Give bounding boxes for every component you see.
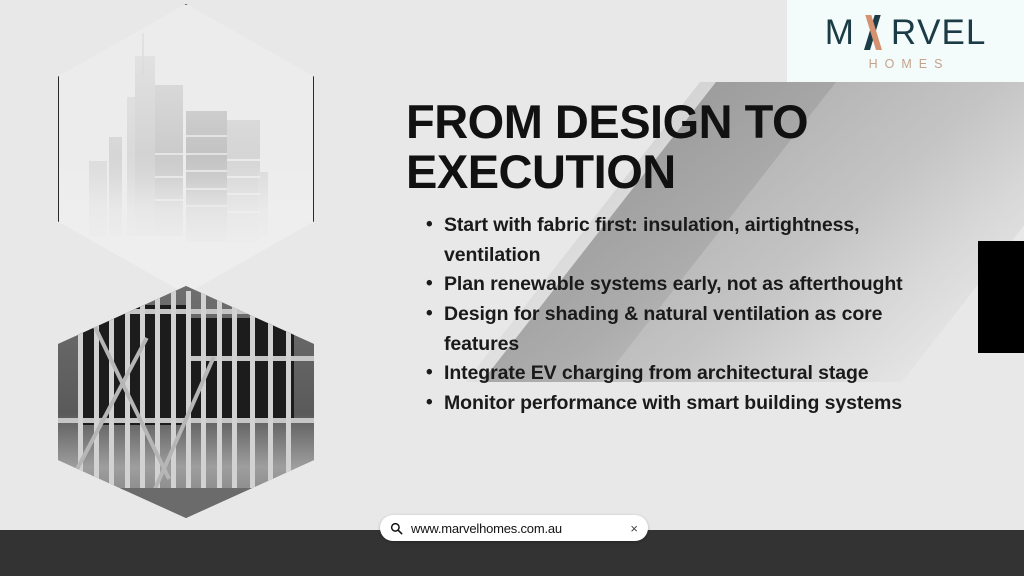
- url-text: www.marvelhomes.com.au: [411, 521, 624, 536]
- bullet-item: Start with fabric first: insulation, air…: [424, 211, 944, 270]
- logo-letter-m: M: [825, 15, 855, 50]
- bullet-list: Start with fabric first: insulation, air…: [424, 211, 944, 418]
- brand-logo: M R V E L HOMES: [787, 0, 1024, 82]
- hexagon-image-construction: [58, 286, 314, 518]
- close-icon[interactable]: ×: [624, 521, 638, 536]
- bullet-item: Monitor performance with smart building …: [424, 389, 944, 419]
- bullet-item: Integrate EV charging from architectural…: [424, 359, 944, 389]
- search-icon: [390, 522, 403, 535]
- logo-letter-r: R: [891, 15, 917, 50]
- bullet-item: Design for shading & natural ventilation…: [424, 300, 944, 359]
- slide-canvas: FROM DESIGN TO EXECUTION Start with fabr…: [0, 0, 1024, 530]
- logo-letter-l: L: [966, 15, 986, 50]
- logo-letter-a-icon: [856, 15, 890, 50]
- url-status-pill[interactable]: www.marvelhomes.com.au ×: [380, 515, 648, 541]
- bullet-item: Plan renewable systems early, not as aft…: [424, 270, 944, 300]
- hexagon-outline: [58, 4, 314, 294]
- headline-line-2: EXECUTION: [406, 147, 906, 197]
- logo-wordmark: M R V E L: [825, 12, 987, 50]
- slide-headline: FROM DESIGN TO EXECUTION: [406, 97, 906, 197]
- accent-block: [978, 241, 1024, 353]
- logo-letter-e: E: [941, 15, 965, 50]
- logo-letter-v: V: [917, 15, 941, 50]
- headline-line-1: FROM DESIGN TO: [406, 97, 906, 147]
- logo-subtitle: HOMES: [862, 57, 950, 71]
- hexagon-image-skyline: [58, 4, 314, 294]
